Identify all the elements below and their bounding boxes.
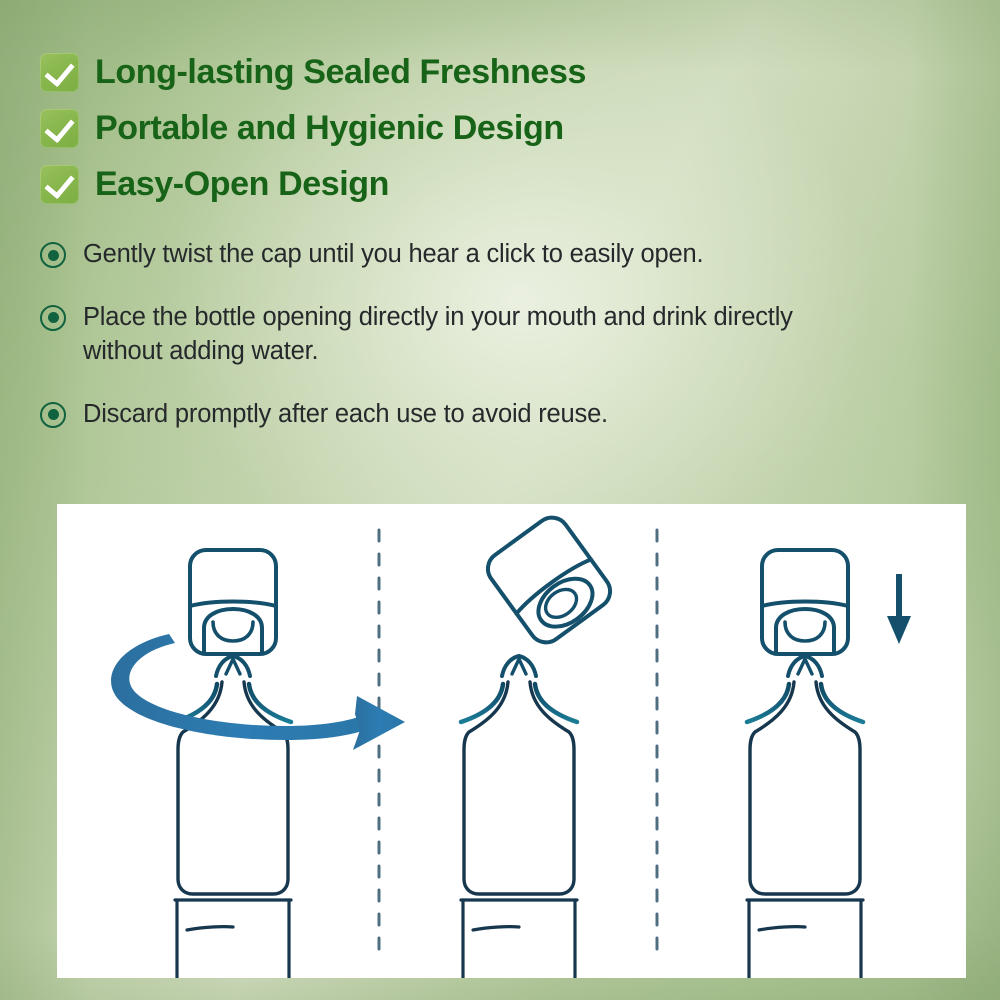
feature-item-label: Portable and Hygienic Design [95, 111, 564, 145]
check-icon-tick [44, 111, 74, 143]
feature-list: Long-lasting Sealed Freshness Portable a… [40, 44, 586, 212]
check-icon [40, 109, 79, 148]
check-icon-tick [44, 167, 74, 199]
down-arrow-icon [887, 574, 911, 644]
instruction-item-text: Gently twist the cap until you hear a cl… [83, 238, 703, 272]
instruction-item: Gently twist the cap until you hear a cl… [40, 238, 830, 272]
feature-item: Long-lasting Sealed Freshness [40, 44, 586, 100]
feature-item: Easy-Open Design [40, 156, 586, 212]
tilted-cap-icon [481, 511, 617, 649]
instruction-item-text: Discard promptly after each use to avoid… [83, 398, 608, 432]
feature-item: Portable and Hygienic Design [40, 100, 586, 156]
feature-item-label: Easy-Open Design [95, 167, 389, 201]
instruction-list: Gently twist the cap until you hear a cl… [40, 238, 830, 432]
illustration-panel [57, 504, 966, 978]
page-content: Long-lasting Sealed Freshness Portable a… [0, 0, 1000, 1000]
instruction-item: Discard promptly after each use to avoid… [40, 398, 830, 432]
check-icon-tick [44, 55, 74, 87]
feature-item-label: Long-lasting Sealed Freshness [95, 55, 586, 89]
instruction-item: Place the bottle opening directly in you… [40, 301, 830, 369]
check-icon [40, 53, 79, 92]
illustration-twist-cap [111, 550, 405, 978]
illustration-remove-cap [461, 511, 617, 978]
radio-dot-icon [40, 305, 66, 331]
check-icon [40, 165, 79, 204]
radio-dot-icon [40, 402, 66, 428]
radio-dot-icon [40, 242, 66, 268]
illustration-replace-cap [747, 550, 911, 978]
instruction-item-text: Place the bottle opening directly in you… [83, 301, 830, 369]
